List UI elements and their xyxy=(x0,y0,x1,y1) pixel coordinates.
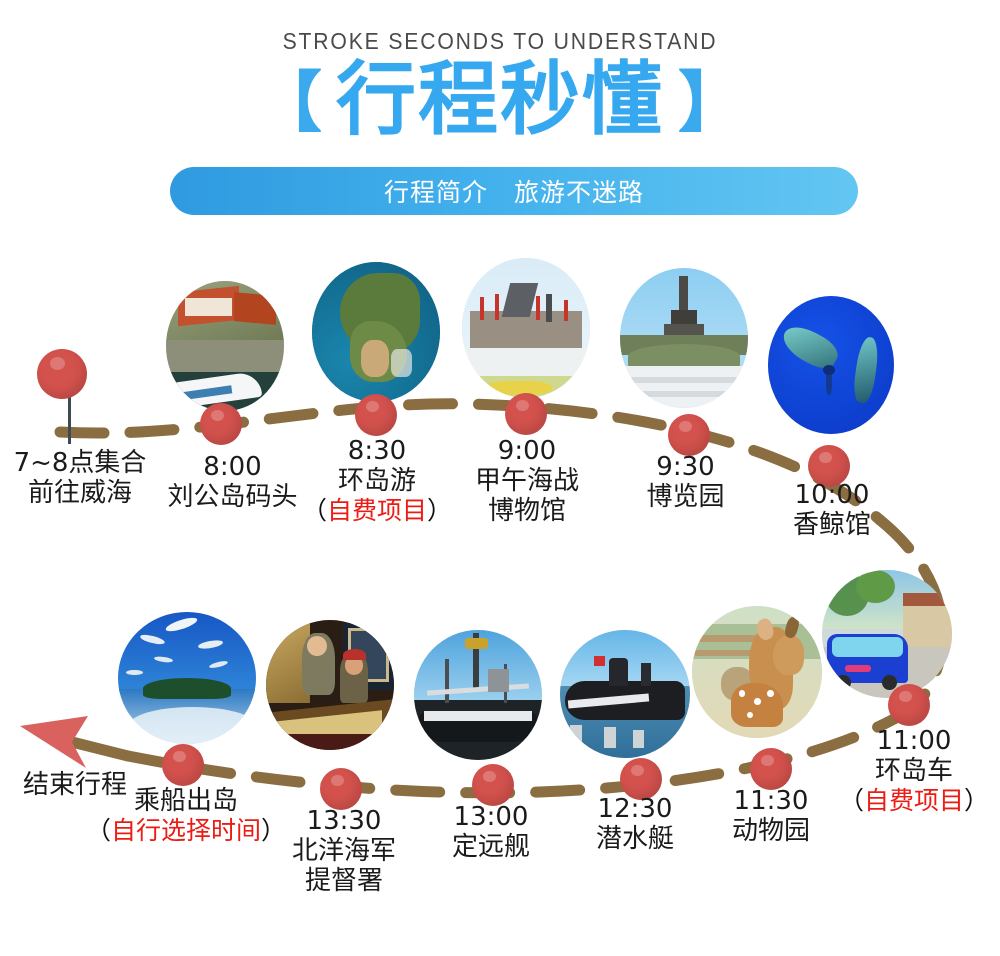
photo-dock xyxy=(166,281,284,411)
stop-time: 7~8点集合 xyxy=(0,448,160,478)
photo-expo xyxy=(620,268,748,408)
stop-name: 潜水艇 xyxy=(556,824,714,854)
pin-head-icon xyxy=(37,349,87,399)
stop-label-zoo: 11:30 动物园 xyxy=(692,786,850,846)
stop-label-end: 结束行程 xyxy=(0,770,150,800)
route-dot-dingyuan xyxy=(472,764,514,806)
stop-label-gather: 7~8点集合 前往威海 xyxy=(0,448,160,508)
subtitle-banner-text: 行程简介旅游不迷路 xyxy=(384,173,644,209)
route-dot-museum xyxy=(505,393,547,435)
stop-optional-note: （自行选择时间） xyxy=(84,816,288,845)
photo-island xyxy=(312,262,440,402)
stop-name: 动物园 xyxy=(692,816,850,846)
stop-name: 香鲸馆 xyxy=(752,510,912,540)
photo-submarine xyxy=(560,630,690,758)
photo-zoo xyxy=(692,606,822,738)
photo-navy-hq xyxy=(266,620,394,750)
stop-time: 9:00 xyxy=(446,436,608,466)
bracket-right-icon: 】 xyxy=(678,69,744,135)
photo-museum xyxy=(462,258,590,398)
stop-label-whale: 10:00 香鲸馆 xyxy=(752,480,912,540)
route-dot-cart xyxy=(888,684,930,726)
stop-name-line2: 博物馆 xyxy=(446,496,608,526)
subtitle-banner: 行程简介旅游不迷路 xyxy=(170,167,858,215)
stop-time: 13:00 xyxy=(412,802,570,832)
stop-label-submarine: 12:30 潜水艇 xyxy=(556,794,714,854)
stop-time: 10:00 xyxy=(752,480,912,510)
photo-whale xyxy=(768,296,894,434)
stop-label-island: 8:30 环岛游 （自费项目） xyxy=(292,436,462,525)
page-title: 【行程秒懂】 xyxy=(0,60,1000,140)
stop-time: 11:00 xyxy=(828,726,1000,756)
page-title-text: 行程秒懂 xyxy=(322,60,678,140)
banner-label-left: 行程简介 xyxy=(384,178,488,207)
stop-name: 博览园 xyxy=(608,482,763,512)
pin-stem xyxy=(68,392,71,444)
route-dot-navy-hq xyxy=(320,768,362,810)
stop-name-line2: 提督署 xyxy=(258,866,430,896)
stop-label-dingyuan: 13:00 定远舰 xyxy=(412,802,570,862)
stop-time: 结束行程 xyxy=(0,770,150,800)
route-dot-island xyxy=(355,394,397,436)
stop-time: 11:30 xyxy=(692,786,850,816)
photo-dingyuan xyxy=(414,630,542,760)
stop-name: 甲午海战 xyxy=(446,466,608,496)
stop-optional-note: （自费项目） xyxy=(828,786,1000,815)
stop-name: 前往威海 xyxy=(0,478,160,508)
stop-optional-note: （自费项目） xyxy=(292,496,462,525)
itinerary-infographic: STROKE SECONDS TO UNDERSTAND 【行程秒懂】 行程简介… xyxy=(0,0,1000,956)
stop-time: 8:30 xyxy=(292,436,462,466)
route-dot-zoo xyxy=(750,748,792,790)
end-arrow-icon xyxy=(20,716,88,768)
stop-name: 定远舰 xyxy=(412,832,570,862)
banner-label-right: 旅游不迷路 xyxy=(514,178,644,207)
stop-label-museum: 9:00 甲午海战 博物馆 xyxy=(446,436,608,526)
eyebrow-subtitle: STROKE SECONDS TO UNDERSTAND xyxy=(40,28,960,55)
photo-cart xyxy=(822,570,952,698)
stop-name: 环岛车 xyxy=(828,756,1000,786)
stop-time: 9:30 xyxy=(608,452,763,482)
route-dot-expo xyxy=(668,414,710,456)
stop-label-expo: 9:30 博览园 xyxy=(608,452,763,512)
photo-leave-island xyxy=(118,612,256,744)
stop-time: 12:30 xyxy=(556,794,714,824)
route-dot-leave-island xyxy=(162,744,204,786)
route-dot-dock xyxy=(200,403,242,445)
stop-name: 环岛游 xyxy=(292,466,462,496)
bracket-left-icon: 【 xyxy=(256,69,322,135)
stop-label-cart: 11:00 环岛车 （自费项目） xyxy=(828,726,1000,815)
